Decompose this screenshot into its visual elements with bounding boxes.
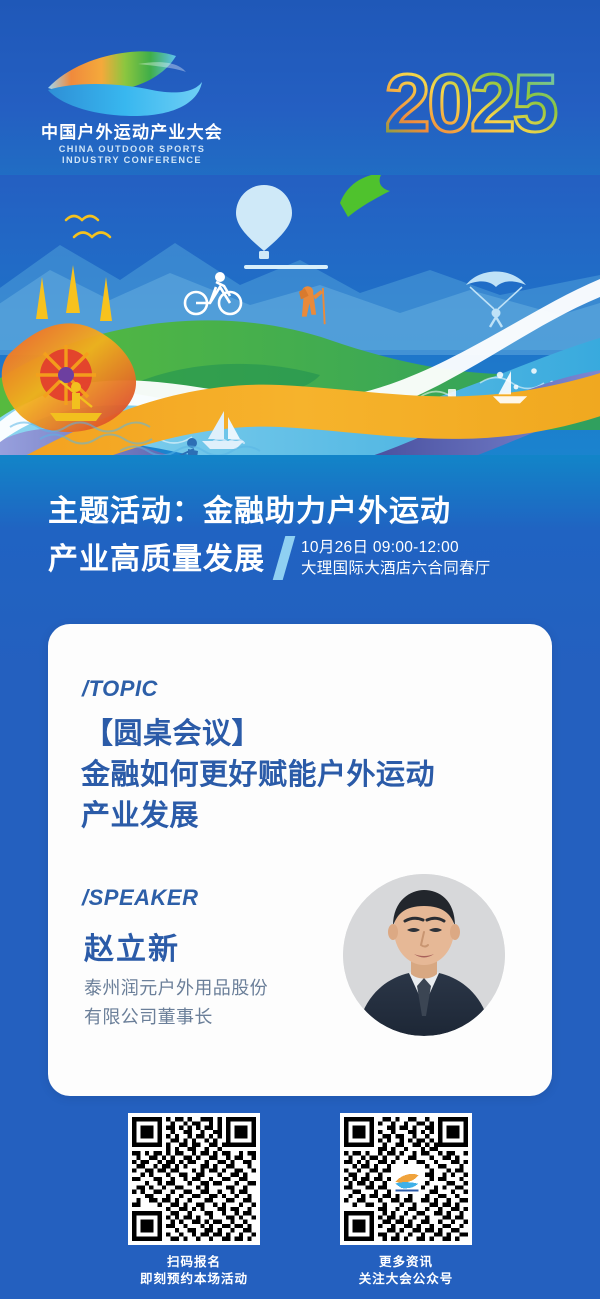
logo-mark <box>48 51 202 116</box>
conference-logo: 中国户外运动产业大会 CHINA OUTDOOR SPORTS INDUSTRY… <box>42 46 222 166</box>
qr-item-official: 更多资讯 关注大会公众号 <box>336 1113 476 1299</box>
speaker-organization: 泰州润元户外用品股份 有限公司董事长 <box>84 974 334 1032</box>
headline-line-2: 产业高质量发展 <box>48 540 265 580</box>
speaker-name: 赵立新 <box>84 924 180 968</box>
topic-bracket-line: 【圆桌会议】 <box>81 714 531 755</box>
signup-qr[interactable] <box>128 1113 260 1245</box>
slash-divider <box>273 536 296 580</box>
qr-caption-signup: 扫码报名 即刻预约本场活动 <box>124 1254 264 1288</box>
year-graphic: 2025 <box>382 45 562 155</box>
event-venue: 大理国际大酒店六合同春厅 <box>301 558 491 579</box>
logo-text-en: CHINA OUTDOOR SPORTS INDUSTRY CONFERENCE <box>59 144 206 165</box>
outdoor-illustration <box>0 175 600 475</box>
speaker-kicker: /SPEAKER <box>82 885 198 911</box>
event-datetime: 10月26日 09:00-12:00 <box>301 538 491 558</box>
topic-line-1: 金融如何更好赋能户外运动 <box>81 755 531 796</box>
qr-center-logo <box>391 1164 421 1194</box>
svg-text:CHINA OUTDOOR SPORTS: CHINA OUTDOOR SPORTS <box>59 144 206 154</box>
official-account-qr[interactable] <box>340 1113 472 1245</box>
speaker-avatar <box>343 874 505 1036</box>
conference-poster: 中国户外运动产业大会 CHINA OUTDOOR SPORTS INDUSTRY… <box>0 0 600 1299</box>
year-text: 2025 <box>385 58 557 149</box>
speaker-org-line-2: 有限公司董事长 <box>84 1003 334 1032</box>
qr-caption-line-1: 更多资讯 <box>336 1254 476 1271</box>
qr-caption-official: 更多资讯 关注大会公众号 <box>336 1254 476 1288</box>
session-card: /TOPIC 【圆桌会议】 金融如何更好赋能户外运动 产业发展 /SPEAKER… <box>48 624 552 1096</box>
logo-text-cn: 中国户外运动产业大会 <box>42 122 222 143</box>
qr-section: 扫码报名 即刻预约本场活动 <box>0 1113 600 1299</box>
event-meta: 10月26日 09:00-12:00 大理国际大酒店六合同春厅 <box>301 538 491 580</box>
svg-text:INDUSTRY CONFERENCE: INDUSTRY CONFERENCE <box>62 155 202 165</box>
speaker-org-line-1: 泰州润元户外用品股份 <box>84 974 334 1003</box>
qr-caption-line-1: 扫码报名 <box>124 1254 264 1271</box>
topic-line-2: 产业发展 <box>81 796 531 837</box>
qr-caption-line-2: 关注大会公众号 <box>336 1271 476 1288</box>
topic-title: 【圆桌会议】 金融如何更好赋能户外运动 产业发展 <box>81 714 531 837</box>
headline-line-1: 主题活动：金融助力户外运动 <box>48 492 568 532</box>
qr-item-signup: 扫码报名 即刻预约本场活动 <box>124 1113 264 1299</box>
qr-caption-line-2: 即刻预约本场活动 <box>124 1271 264 1288</box>
topic-kicker: /TOPIC <box>82 676 158 702</box>
svg-text:中国户外运动产业大会: 中国户外运动产业大会 <box>42 122 222 143</box>
headline-block: 主题活动：金融助力户外运动 产业高质量发展 10月26日 09:00-12:00… <box>48 492 568 580</box>
